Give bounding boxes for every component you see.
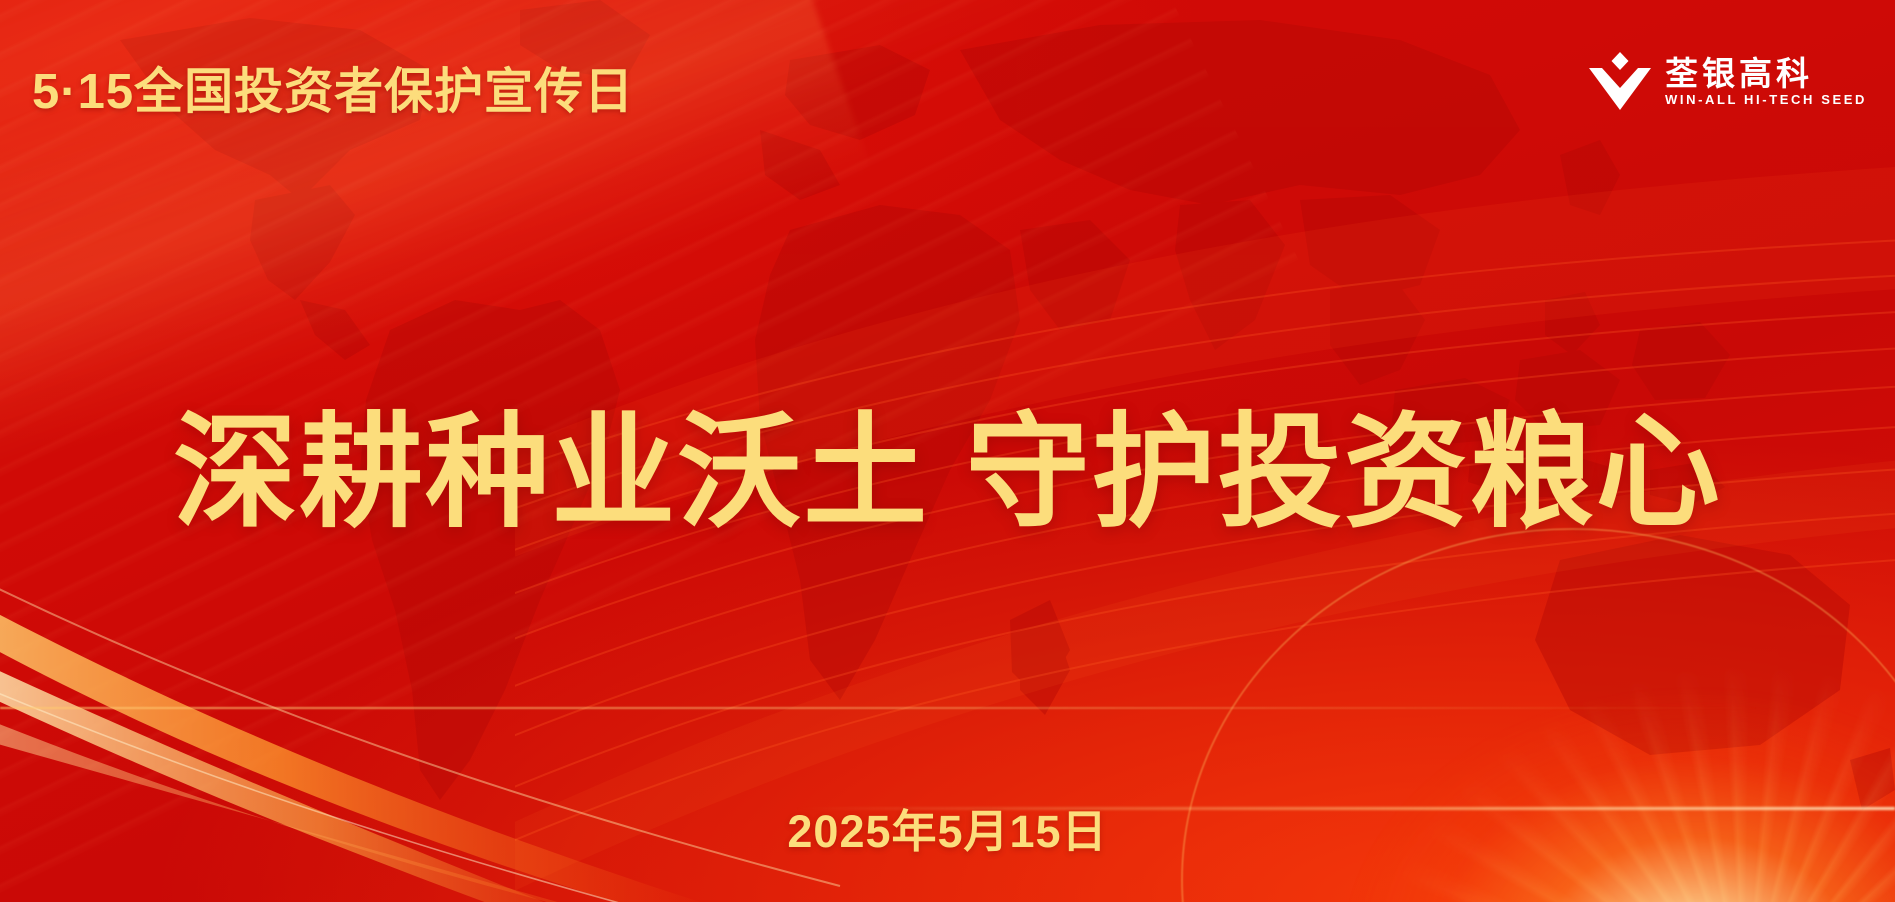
logo-name-cn: 荃银高科 [1665,57,1867,90]
company-logo[interactable]: 荃银高科 WIN-ALL HI-TECH SEED [1589,52,1867,110]
investor-protection-banner: 5·15全国投资者保护宣传日 荃银高科 WIN-ALL HI-TECH SEED… [0,0,1895,902]
event-date: 2025年5月15日 [0,795,1895,860]
main-headline: 深耕种业沃土 守护投资粮心 [0,405,1895,541]
campaign-eyebrow: 5·15全国投资者保护宣传日 [32,52,634,123]
chevron-diamond-icon [1589,52,1651,110]
banner-content: 5·15全国投资者保护宣传日 荃银高科 WIN-ALL HI-TECH SEED… [0,0,1895,902]
logo-wordmark: 荃银高科 WIN-ALL HI-TECH SEED [1665,57,1867,106]
logo-name-en: WIN-ALL HI-TECH SEED [1665,93,1867,106]
